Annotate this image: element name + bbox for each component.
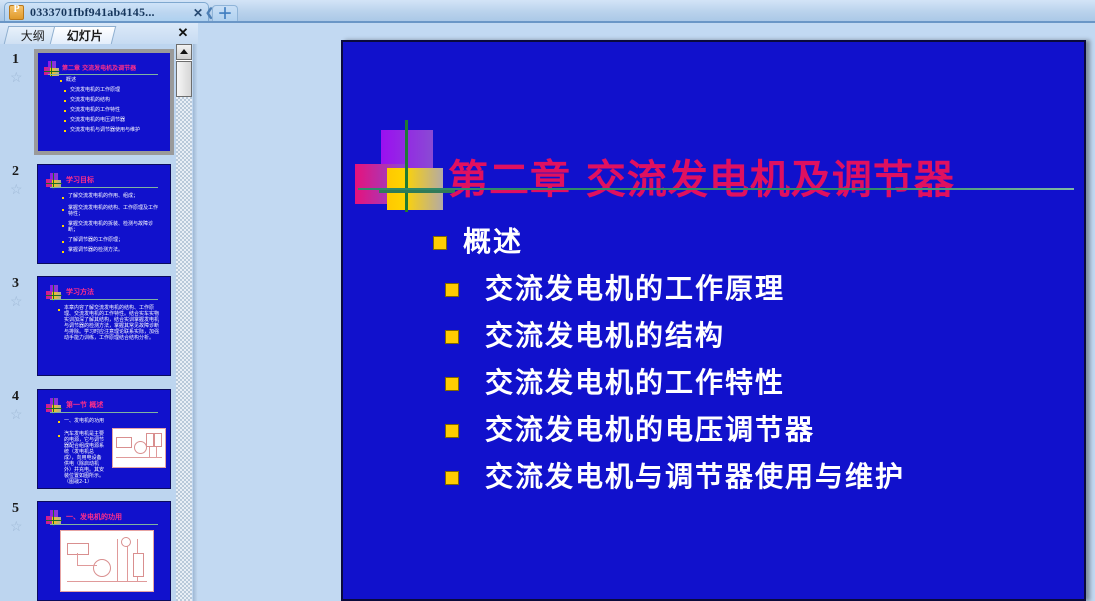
- scrollbar-thumb[interactable]: [176, 61, 192, 97]
- panel-splitter[interactable]: [193, 44, 198, 601]
- panel-tab-list: 大纲 幻灯片: [6, 25, 110, 44]
- thumbnail-line: 了解调节器的工作原理；: [68, 237, 123, 243]
- chevron-up-icon: [180, 49, 188, 54]
- title-underline: [358, 188, 1074, 190]
- bullet-text: 交流发电机的工作特性: [485, 361, 785, 405]
- slide-thumbnail[interactable]: 第一节 概述 一、发电机的功用 汽车发电机是主要的电源，它与调节器配合组成电源系…: [37, 389, 171, 489]
- browser-tab-strip: 0333701fbf941ab4145... ✕ ❮ ＋: [0, 0, 1095, 22]
- slide-title: 第二章 交流发电机及调节器: [448, 147, 955, 205]
- slide-thumbnail[interactable]: 学习方法 本章内容了解交流发电机的结构、工作原理、交流发电机的工作特性。结合实车…: [37, 276, 171, 376]
- bullet-marker-icon: [445, 283, 459, 297]
- slide-number: 5: [12, 501, 19, 517]
- thumbnail-line: 交流发电机的工作特性: [70, 107, 120, 113]
- bullet-marker-icon: [445, 330, 459, 344]
- scrollbar-track[interactable]: [176, 61, 192, 601]
- slide-stage: 第二章 交流发电机及调节器 概述 交流发电机的工作原理 交流发电机的结构: [203, 23, 1095, 601]
- bullet-text: 交流发电机的结构: [485, 314, 725, 358]
- decorative-logo-icon: [355, 120, 455, 212]
- bullet-marker-icon: [445, 377, 459, 391]
- thumbnail-line: 掌握交流发电机的拆装、检测与故障诊断；: [68, 221, 160, 233]
- application-window: 0333701fbf941ab4145... ✕ ❮ ＋ 大纲 幻灯片 ✕: [0, 0, 1095, 601]
- transition-star-icon: ☆: [10, 182, 23, 196]
- scroll-up-button[interactable]: [176, 44, 192, 60]
- thumbnail-line: 本章内容了解交流发电机的结构、工作原理、交流发电机的工作特性。结合实车实物实训加…: [64, 305, 162, 341]
- transition-star-icon: ☆: [10, 407, 23, 421]
- thumbnail-line: 了解交流发电机的作用、组成；: [68, 193, 160, 199]
- slide-number: 4: [12, 389, 19, 405]
- thumbnail-line: 汽车发电机是主要的电源，它与调节器配合组成电源系统（发电机总成），向用电设备供电…: [64, 431, 106, 485]
- current-slide[interactable]: 第二章 交流发电机及调节器 概述 交流发电机的工作原理 交流发电机的结构: [341, 40, 1086, 601]
- slide-number: 2: [12, 164, 19, 180]
- panel-close-icon[interactable]: ✕: [176, 25, 190, 41]
- thumbnail-line: 交流发电机的工作原理: [70, 87, 120, 93]
- slide-number: 1: [12, 52, 19, 68]
- thumbnail-line: 掌握交流发电机的结构、工作原理及工作特性；: [68, 205, 160, 217]
- thumbnail-line: 交流发电机的电压调节器: [70, 117, 125, 123]
- tab-slides-label: 幻灯片: [67, 27, 103, 45]
- thumbnail-line: 交流发电机的结构: [70, 97, 110, 103]
- thumbnail-diagram: [112, 428, 166, 468]
- thumbnail-line: 概述: [66, 77, 76, 83]
- thumbnail-line: 交流发电机与调节器使用与维护: [70, 127, 140, 133]
- bullet-text: 交流发电机的电压调节器: [485, 408, 815, 452]
- tab-outline-label: 大纲: [21, 27, 45, 45]
- thumbnail-title: 学习方法: [66, 287, 94, 297]
- plus-icon: ＋: [217, 7, 232, 22]
- thumbnail-title: 第二章 交流发电机及调节器: [62, 63, 136, 72]
- slide-thumbnail-list: 1 ☆ 第二章 交流发电机及调节器 概述 交流发电机的工作原理: [0, 44, 198, 601]
- thumbnail-title: 一、发电机的功用: [66, 512, 122, 522]
- list-item: 概述: [433, 220, 1073, 267]
- transition-star-icon: ☆: [10, 294, 23, 308]
- thumbnail-title: 学习目标: [66, 175, 94, 185]
- slide-thumbnail[interactable]: 学习目标 了解交流发电机的作用、组成； 掌握交流发电机的结构、工作原理及工作特性…: [37, 164, 171, 264]
- list-item: 交流发电机的电压调节器: [433, 408, 1073, 455]
- transition-star-icon: ☆: [10, 519, 23, 533]
- tab-slides[interactable]: 幻灯片: [50, 26, 117, 44]
- bullet-marker-icon: [445, 471, 459, 485]
- bullet-marker-icon: [433, 236, 447, 250]
- slide-bullet-list: 概述 交流发电机的工作原理 交流发电机的结构 交流发电机的工作特性 交流发电机的: [433, 220, 1073, 502]
- slide-thumbnail[interactable]: 一、发电机的功用: [37, 501, 171, 601]
- powerpoint-file-icon: [9, 5, 24, 20]
- bullet-text: 交流发电机的工作原理: [485, 267, 785, 311]
- thumbnail-rule: [48, 74, 158, 75]
- list-item: 交流发电机与调节器使用与维护: [433, 455, 1073, 502]
- panel-header: 大纲 幻灯片 ✕: [0, 23, 198, 44]
- thumbnail-diagram: [60, 530, 154, 592]
- slide-navigator-panel: 大纲 幻灯片 ✕ 1 ☆ 第二章 交流发: [0, 23, 198, 601]
- document-tab-title: 0333701fbf941ab4145...: [30, 5, 192, 20]
- panel-scrollbar[interactable]: [176, 44, 192, 601]
- document-tab[interactable]: 0333701fbf941ab4145... ✕: [4, 2, 209, 22]
- list-item: 交流发电机的工作原理: [433, 267, 1073, 314]
- bullet-text: 概述: [463, 220, 523, 264]
- slide-number: 3: [12, 276, 19, 292]
- thumbnail-title: 第一节 概述: [66, 400, 103, 410]
- transition-star-icon: ☆: [10, 70, 23, 84]
- bullet-marker-icon: [445, 424, 459, 438]
- close-icon[interactable]: ✕: [192, 7, 204, 19]
- thumbnail-line: 一、发电机的功用: [64, 418, 104, 424]
- slide-thumbnail[interactable]: 第二章 交流发电机及调节器 概述 交流发电机的工作原理 交流发电机的结构 交流发…: [34, 49, 174, 155]
- list-item: 交流发电机的工作特性: [433, 361, 1073, 408]
- thumbnail-line: 掌握调节器的检测方法。: [68, 247, 123, 253]
- new-tab-button[interactable]: ＋: [212, 5, 238, 22]
- list-item: 交流发电机的结构: [433, 314, 1073, 361]
- bullet-text: 交流发电机与调节器使用与维护: [485, 455, 905, 499]
